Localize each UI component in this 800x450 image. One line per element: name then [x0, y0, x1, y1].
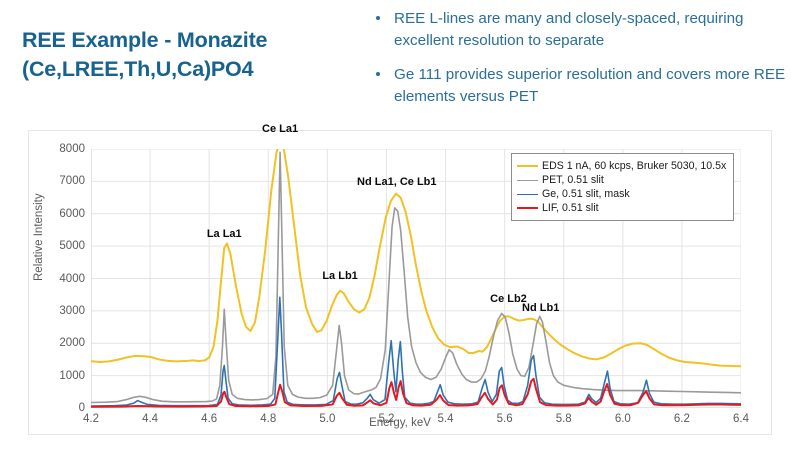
y-axis-tick: 1000 — [59, 370, 85, 382]
x-axis-tick: 4.4 — [142, 413, 158, 425]
x-axis-tick: 6.2 — [674, 413, 690, 425]
bullet-item: REE L-lines are many and closely-spaced,… — [372, 8, 790, 51]
y-axis-tick: 3000 — [59, 305, 85, 317]
legend-item[interactable]: PET, 0.51 slit — [517, 173, 726, 187]
legend-label: LIF, 0.51 slit — [542, 202, 599, 214]
legend-swatch-icon — [517, 165, 538, 167]
x-axis-tick: 4.8 — [260, 413, 276, 425]
legend-swatch-icon — [517, 194, 538, 195]
legend-label: PET, 0.51 slit — [542, 174, 604, 186]
page-title-line-2: (Ce,LREE,Th,U,Ca)PO4 — [22, 55, 352, 84]
y-axis-title: Relative Intensity — [33, 193, 45, 281]
bullet-text: REE L-lines are many and closely-spaced,… — [394, 10, 743, 49]
bullet-text: Ge 111 provides superior resolution and … — [394, 66, 785, 105]
x-axis-tick: 5.6 — [497, 413, 513, 425]
bullet-dot-icon — [376, 16, 380, 20]
page-title-line-1: REE Example - Monazite — [22, 26, 352, 55]
x-axis-tick: 5.0 — [319, 413, 335, 425]
x-axis-tick: 4.6 — [201, 413, 217, 425]
chart-panel: Relative Intensity Energy, keV 010002000… — [28, 130, 772, 435]
legend-swatch-icon — [517, 180, 538, 181]
x-axis-tick: 6.4 — [733, 413, 749, 425]
x-axis-title: Energy, keV — [29, 417, 771, 429]
bullet-list: REE L-lines are many and closely-spaced,… — [372, 8, 790, 120]
page-title: REE Example - Monazite (Ce,LREE,Th,U,Ca)… — [22, 26, 352, 84]
x-axis-tick: 5.4 — [438, 413, 454, 425]
peak-annotation: La La1 — [207, 228, 242, 240]
y-axis-tick: 7000 — [59, 175, 85, 187]
x-axis-tick: 6.0 — [615, 413, 631, 425]
peak-annotation: Nd Lb1 — [522, 302, 559, 314]
y-axis-tick: 8000 — [59, 143, 85, 155]
series-line — [91, 297, 741, 406]
x-axis-tick: 4.2 — [83, 413, 99, 425]
y-axis-tick: 4000 — [59, 273, 85, 285]
y-axis-tick: 6000 — [59, 208, 85, 220]
y-axis-tick: 2000 — [59, 337, 85, 349]
chart-legend[interactable]: EDS 1 nA, 60 kcps, Bruker 5030, 10.5xPET… — [511, 153, 734, 221]
legend-item[interactable]: LIF, 0.51 slit — [517, 201, 726, 215]
bullet-item: Ge 111 provides superior resolution and … — [372, 64, 790, 107]
x-axis-tick: 5.2 — [378, 413, 394, 425]
legend-item[interactable]: Ge, 0.51 slit, mask — [517, 187, 726, 201]
legend-item[interactable]: EDS 1 nA, 60 kcps, Bruker 5030, 10.5x — [517, 159, 726, 173]
peak-annotation: Ce La1 — [262, 123, 298, 135]
x-axis-tick: 5.8 — [556, 413, 572, 425]
legend-label: Ge, 0.51 slit, mask — [542, 188, 630, 200]
legend-swatch-icon — [517, 207, 538, 209]
bullet-dot-icon — [376, 72, 380, 76]
legend-label: EDS 1 nA, 60 kcps, Bruker 5030, 10.5x — [542, 160, 726, 172]
peak-annotation: Nd La1, Ce Lb1 — [357, 176, 436, 188]
y-axis-tick: 5000 — [59, 240, 85, 252]
peak-annotation: La Lb1 — [322, 270, 357, 282]
